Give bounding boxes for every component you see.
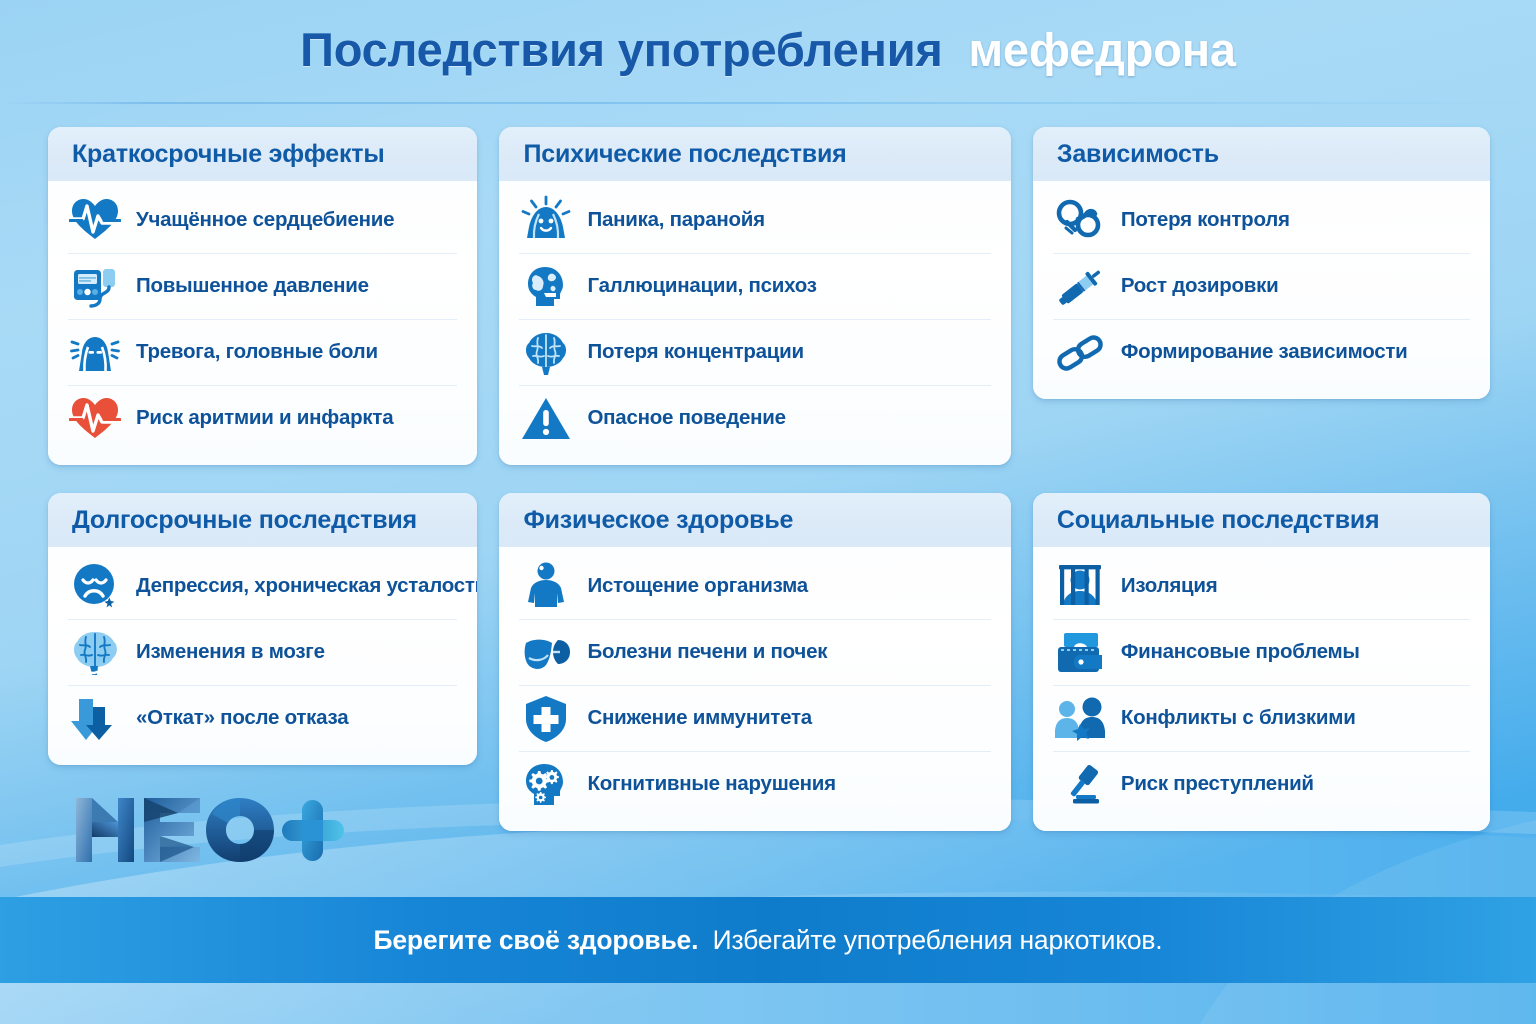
card-header: Зависимость	[1033, 127, 1490, 181]
heart-pulse-icon	[68, 193, 122, 247]
list-item[interactable]: Изоляция	[1053, 553, 1470, 619]
heart-attack-icon	[68, 392, 122, 446]
list-item-label: Учащённое сердцебиение	[136, 209, 394, 232]
list-item[interactable]: Истощение организма	[519, 553, 990, 619]
card-header: Краткосрочные эффекты	[48, 127, 477, 181]
list-item-label: Рост дозировки	[1121, 275, 1279, 298]
wallet-icon	[1053, 626, 1107, 680]
panic-ghost-icon	[519, 193, 573, 247]
list-item-label: Истощение организма	[587, 575, 807, 598]
list-item-label: Риск аритмии и инфаркта	[136, 407, 393, 430]
card-body: Учащённое сердцебиение Повышенное давлен…	[48, 181, 477, 465]
list-item-label: Риск преступлений	[1121, 773, 1314, 796]
list-item-label: Потеря концентрации	[587, 341, 803, 364]
list-item-label: Галлюцинации, психоз	[587, 275, 816, 298]
list-item-label: Паника, паранойя	[587, 209, 764, 232]
list-item-label: Финансовые проблемы	[1121, 641, 1360, 664]
list-item-label: Изоляция	[1121, 575, 1218, 598]
card-heading: Долгосрочные последствия	[72, 506, 453, 535]
list-item-label: Повышенное давление	[136, 275, 369, 298]
syringe-icon	[1053, 260, 1107, 314]
card-body: Паника, паранойя Галлюцинации, психоз По…	[499, 181, 1010, 465]
list-item[interactable]: Повышенное давление	[68, 253, 457, 319]
blood-pressure-monitor-icon	[68, 260, 122, 314]
list-item-label: «Откат» после отказа	[136, 707, 348, 730]
footer-regular-part: Избегайте употребления наркотиков.	[713, 925, 1163, 955]
card-body: Истощение организма Болезни печени и поч…	[499, 547, 1010, 831]
cards-grid: Краткосрочные эффекты Учащённое сердцеби…	[48, 127, 1490, 831]
shield-cross-icon	[519, 692, 573, 746]
list-item[interactable]: Тревога, головные боли	[68, 319, 457, 385]
page-title-part1: Последствия употребления	[300, 23, 942, 76]
list-item[interactable]: Паника, паранойя	[519, 187, 990, 253]
card-body: Депрессия, хроническая усталость Изменен…	[48, 547, 477, 765]
card-header: Психические последствия	[499, 127, 1010, 181]
card-heading: Краткосрочные эффекты	[72, 140, 453, 169]
list-item-label: Когнитивные нарушения	[587, 773, 835, 796]
page-title: Последствия употребления мефедрона	[0, 22, 1536, 77]
liver-kidney-icon	[519, 626, 573, 680]
list-item[interactable]: Рост дозировки	[1053, 253, 1470, 319]
list-item[interactable]: Потеря концентрации	[519, 319, 990, 385]
list-item[interactable]: Снижение иммунитета	[519, 685, 990, 751]
list-item[interactable]: Учащённое сердцебиение	[68, 187, 457, 253]
brain-change-icon	[68, 626, 122, 680]
list-item-label: Потеря контроля	[1121, 209, 1290, 232]
footer-text: Берегите своё здоровье. Избегайте употре…	[374, 925, 1163, 956]
list-item[interactable]: «Откат» после отказа	[68, 685, 457, 751]
list-item[interactable]: Потеря контроля	[1053, 187, 1470, 253]
page-title-part2: мефедрона	[968, 23, 1236, 76]
headache-person-icon	[68, 326, 122, 380]
list-item[interactable]: Болезни печени и почек	[519, 619, 990, 685]
list-item[interactable]: Формирование зависимости	[1053, 319, 1470, 385]
card-header: Долгосрочные последствия	[48, 493, 477, 547]
neo-plus-logo	[68, 790, 348, 870]
list-item-label: Опасное поведение	[587, 407, 785, 430]
sad-face-icon	[68, 559, 122, 613]
prison-bars-icon	[1053, 559, 1107, 613]
card-long-term-consequences: Долгосрочные последствия Депрессия, хрон…	[48, 493, 477, 765]
footer-bold-part: Берегите своё здоровье.	[374, 925, 699, 955]
chain-link-icon	[1053, 326, 1107, 380]
card-header: Социальные последствия	[1033, 493, 1490, 547]
card-mental-consequences: Психические последствия Паника, паранойя…	[499, 127, 1010, 465]
list-item-label: Снижение иммунитета	[587, 707, 811, 730]
card-social-consequences: Социальные последствия Изоляция Финансов…	[1033, 493, 1490, 831]
card-heading: Зависимость	[1057, 140, 1466, 169]
card-heading: Физическое здоровье	[523, 506, 986, 535]
list-item-label: Болезни печени и почек	[587, 641, 827, 664]
handcuffs-icon	[1053, 193, 1107, 247]
list-item[interactable]: Галлюцинации, психоз	[519, 253, 990, 319]
down-arrows-icon	[68, 692, 122, 746]
card-body: Потеря контроля Рост дозировки Формирова…	[1033, 181, 1490, 399]
header-divider	[0, 102, 1536, 104]
brain-icon	[519, 326, 573, 380]
footer-banner: Берегите своё здоровье. Избегайте употре…	[0, 897, 1536, 983]
thin-person-icon	[519, 559, 573, 613]
list-item[interactable]: Опасное поведение	[519, 385, 990, 451]
list-item[interactable]: Когнитивные нарушения	[519, 751, 990, 817]
gavel-icon	[1053, 758, 1107, 812]
list-item[interactable]: Финансовые проблемы	[1053, 619, 1470, 685]
head-gears-icon	[519, 758, 573, 812]
card-dependence: Зависимость Потеря контроля Рост дозиров…	[1033, 127, 1490, 399]
list-item[interactable]: Риск аритмии и инфаркта	[68, 385, 457, 451]
card-heading: Социальные последствия	[1057, 506, 1466, 535]
list-item[interactable]: Депрессия, хроническая усталость	[68, 553, 457, 619]
card-header: Физическое здоровье	[499, 493, 1010, 547]
hallucinating-head-icon	[519, 260, 573, 314]
warning-triangle-icon	[519, 392, 573, 446]
list-item-label: Депрессия, хроническая усталость	[136, 575, 477, 598]
list-item-label: Формирование зависимости	[1121, 341, 1408, 364]
card-short-term-effects: Краткосрочные эффекты Учащённое сердцеби…	[48, 127, 477, 465]
list-item[interactable]: Риск преступлений	[1053, 751, 1470, 817]
card-physical-health: Физическое здоровье Истощение организма …	[499, 493, 1010, 831]
list-item-label: Изменения в мозге	[136, 641, 325, 664]
list-item[interactable]: Изменения в мозге	[68, 619, 457, 685]
conflict-people-icon	[1053, 692, 1107, 746]
list-item-label: Конфликты с близкими	[1121, 707, 1356, 730]
card-heading: Психические последствия	[523, 140, 986, 169]
list-item-label: Тревога, головные боли	[136, 341, 378, 364]
card-body: Изоляция Финансовые проблемы Конфликты с…	[1033, 547, 1490, 831]
list-item[interactable]: Конфликты с близкими	[1053, 685, 1470, 751]
